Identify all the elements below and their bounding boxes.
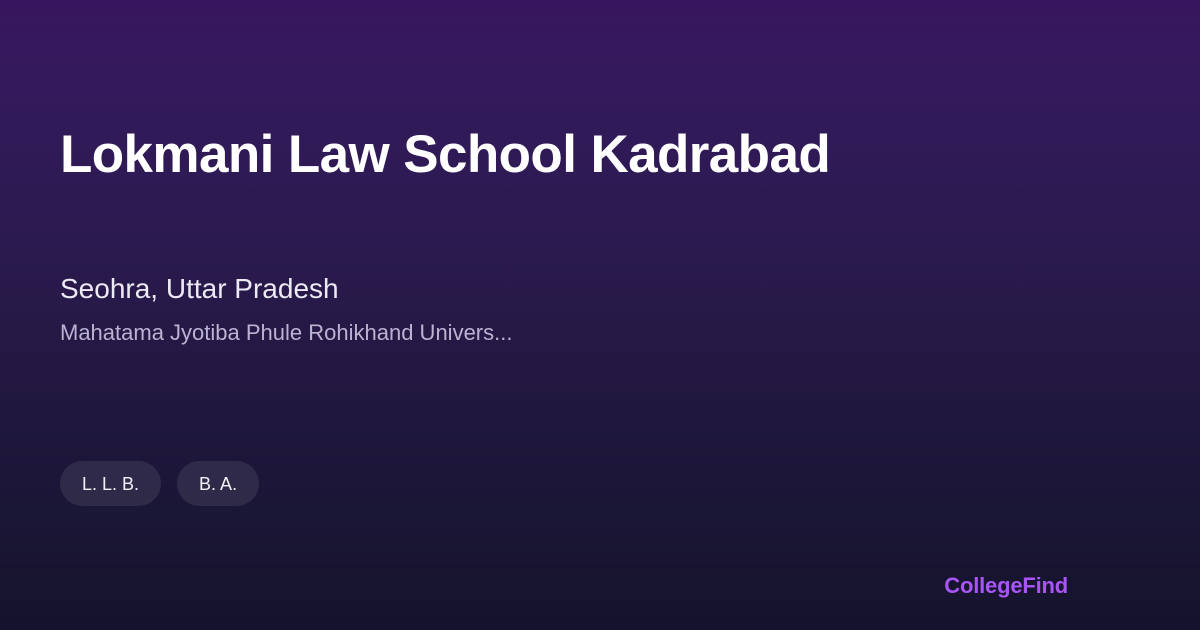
degree-chip-ba: B. A. (177, 461, 259, 506)
page-title: Lokmani Law School Kadrabad (60, 124, 830, 186)
brand-wordmark: CollegeFind (944, 572, 1068, 600)
card-content: Lokmani Law School Kadrabad Seohra, Utta… (60, 0, 1140, 630)
degree-chip-llb: L. L. B. (60, 461, 161, 506)
og-card: Lokmani Law School Kadrabad Seohra, Utta… (0, 0, 1200, 630)
card-meta: Seohra, Uttar Pradesh Mahatama Jyotiba P… (60, 270, 960, 348)
location-text: Seohra, Uttar Pradesh (60, 270, 960, 308)
affiliation-text: Mahatama Jyotiba Phule Rohikhand Univers… (60, 318, 660, 348)
degree-chip-list: L. L. B. B. A. (60, 461, 259, 506)
